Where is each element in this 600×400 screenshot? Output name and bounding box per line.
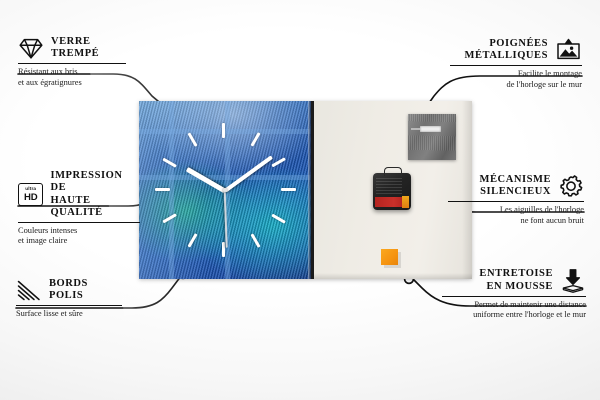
callout-mecanisme-silencieux[interactable]: MÉCANISME SILENCIEUX Les aiguilles de l'…	[448, 174, 584, 226]
callout-divider	[16, 305, 122, 306]
callout-entretoise-en-mousse[interactable]: ENTRETOISE EN MOUSSE Permet de maintenir…	[442, 268, 586, 320]
hour-marker	[155, 188, 170, 191]
hour-marker	[222, 242, 225, 257]
quartz-movement	[373, 173, 411, 210]
gear-icon	[558, 174, 584, 198]
callout-title: POIGNÉES MÉTALLIQUES	[465, 38, 548, 63]
movement-markings	[376, 178, 402, 194]
movement-bail	[384, 167, 402, 176]
clock-center-pin	[223, 188, 227, 192]
callout-verre-trempe[interactable]: VERRE TREMPÉ Résistant aux bris et aux é…	[18, 36, 126, 88]
infographic-canvas: VERRE TREMPÉ Résistant aux bris et aux é…	[0, 0, 600, 400]
callout-divider	[18, 63, 126, 64]
foam-spacer	[381, 249, 398, 265]
callout-title: IMPRESSION DE HAUTE QUALITÉ	[50, 170, 140, 220]
callout-subtitle: Permet de maintenir une distance uniform…	[442, 300, 586, 321]
hour-marker	[281, 188, 296, 191]
callout-poignees-metalliques[interactable]: POIGNÉES MÉTALLIQUES Facilite le montage…	[450, 38, 582, 90]
clock-front-panel	[139, 101, 311, 279]
product-photo	[139, 101, 469, 279]
callout-title: BORDS POLIS	[49, 278, 88, 303]
callout-title: ENTRETOISE EN MOUSSE	[479, 268, 553, 293]
callout-divider	[450, 65, 582, 66]
callout-divider	[448, 201, 584, 202]
wall-picture-hanger-icon	[555, 38, 582, 62]
callout-subtitle: Résistant aux bris et aux égratignures	[18, 67, 126, 88]
arrow-down-onto-layers-icon	[560, 268, 586, 293]
movement-label	[375, 197, 409, 207]
callout-title: MÉCANISME SILENCIEUX	[480, 174, 551, 199]
pattern-grid-line	[139, 175, 311, 180]
ultra-hd-badge-icon: ultra HD	[18, 183, 43, 206]
ultra-hd-badge-main-text: HD	[24, 193, 37, 203]
callout-subtitle: Facilite le montage de l'horloge sur le …	[450, 69, 582, 90]
diamond-icon	[18, 37, 44, 60]
hanger-slot	[420, 126, 441, 132]
callout-subtitle: Couleurs intenses et image claire	[18, 226, 140, 247]
polished-edge-stripes-icon	[16, 279, 42, 302]
callout-subtitle: Les aiguilles de l'horloge ne font aucun…	[448, 205, 584, 226]
callout-subtitle: Surface lisse et sûre	[16, 309, 122, 319]
callout-title: VERRE TREMPÉ	[51, 36, 99, 61]
hour-marker	[222, 123, 225, 138]
callout-impression-hd[interactable]: ultra HD IMPRESSION DE HAUTE QUALITÉ Cou…	[18, 170, 140, 247]
metal-hanger-plate	[408, 114, 456, 160]
callout-bords-polis[interactable]: BORDS POLIS Surface lisse et sûre	[16, 278, 122, 320]
callout-divider	[18, 222, 140, 223]
callout-divider	[442, 296, 586, 297]
hour-marker	[271, 157, 286, 167]
